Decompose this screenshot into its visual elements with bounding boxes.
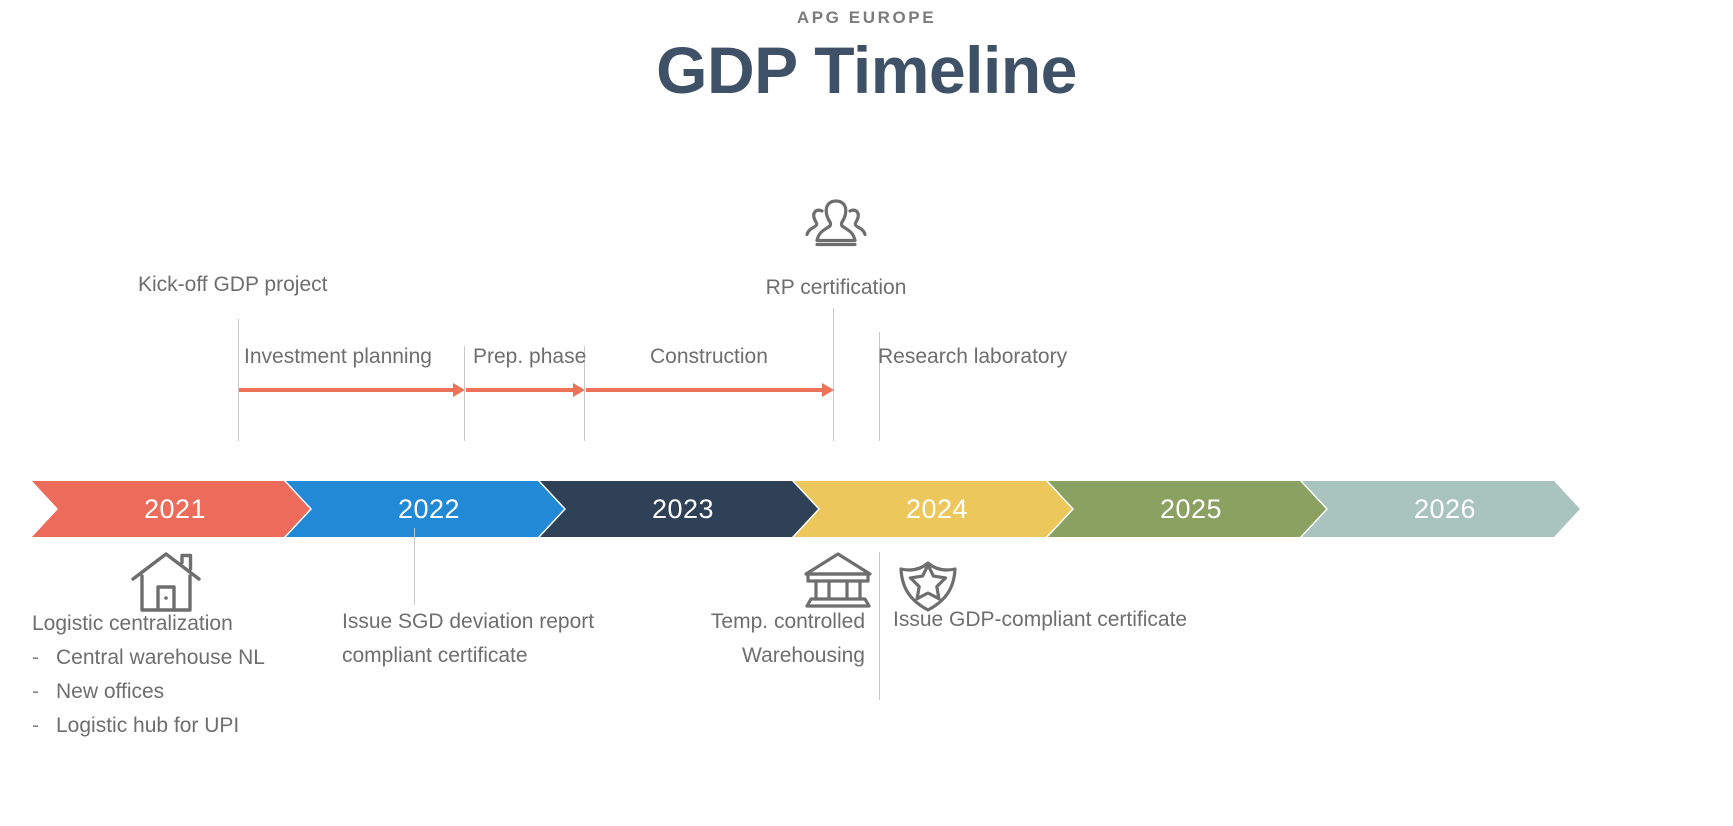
tick-line-rp-certification <box>833 308 834 441</box>
bullet-marker-2: - <box>32 709 42 743</box>
phase-label-investment-planning: Investment planning <box>244 341 432 374</box>
chevron-label-2025: 2025 <box>1160 494 1222 525</box>
list-item: -Logistic hub for UPI <box>32 709 352 743</box>
sgd-text-block: Issue SGD deviation report compliant cer… <box>342 605 672 673</box>
timeline-chevron-2026[interactable]: 2026 <box>1302 481 1580 537</box>
sgd-line-1: Issue SGD deviation report <box>342 605 672 639</box>
chevron-label-2021: 2021 <box>144 494 206 525</box>
phase-label-prep-phase: Prep. phase <box>473 341 586 374</box>
bullet-marker-1: - <box>32 675 42 709</box>
timeline-chevron-2025[interactable]: 2025 <box>1048 481 1326 537</box>
phase-label-research-laboratory: Research laboratory <box>878 341 1067 374</box>
certificate-line-1: Issue GDP-compliant certificate <box>893 604 1187 637</box>
tick-line-2021-start <box>238 319 239 441</box>
arrowhead-prep-phase <box>573 383 585 397</box>
milestone-label-rp-certification: RP certification <box>686 272 986 305</box>
tick-line-certificate <box>879 552 880 700</box>
warehousing-line-2: Warehousing <box>645 639 865 673</box>
arrow-segment-investment-planning <box>239 388 453 392</box>
tick-line-sgd <box>414 528 415 605</box>
page-title: GDP Timeline <box>0 36 1733 105</box>
bullet-text-1: New offices <box>56 675 164 709</box>
timeline-chevron-2024[interactable]: 2024 <box>794 481 1072 537</box>
phase-label-construction: Construction <box>650 341 768 374</box>
arrowhead-construction <box>822 383 834 397</box>
warehousing-line-1: Temp. controlled <box>645 605 865 639</box>
warehousing-text-block: Temp. controlled Warehousing <box>645 605 865 673</box>
bullet-text-0: Central warehouse NL <box>56 641 265 675</box>
arrow-segment-construction <box>586 388 822 392</box>
arrow-segment-prep-phase <box>466 388 573 392</box>
people-group-icon <box>800 195 872 258</box>
sgd-line-2: compliant certificate <box>342 639 672 673</box>
milestone-label-kickoff: Kick-off GDP project <box>138 269 327 302</box>
list-item: -Central warehouse NL <box>32 641 352 675</box>
timeline-chevron-2022[interactable]: 2022 <box>286 481 564 537</box>
brand-eyebrow: APG EUROPE <box>0 8 1733 28</box>
chevron-label-2023: 2023 <box>652 494 714 525</box>
logistics-heading: Logistic centralization <box>32 607 352 641</box>
chevron-label-2022: 2022 <box>398 494 460 525</box>
bullet-text-2: Logistic hub for UPI <box>56 709 239 743</box>
timeline-chevron-band: 2021 2022 2023 2024 2025 2026 <box>32 481 1704 537</box>
timeline-chevron-2023[interactable]: 2023 <box>540 481 818 537</box>
timeline-chevron-2021[interactable]: 2021 <box>32 481 310 537</box>
chevron-label-2024: 2024 <box>906 494 968 525</box>
list-item: -New offices <box>32 675 352 709</box>
arrowhead-investment-planning <box>453 383 465 397</box>
bullet-marker-0: - <box>32 641 42 675</box>
chevron-label-2026: 2026 <box>1414 494 1476 525</box>
logistics-text-block: Logistic centralization -Central warehou… <box>32 607 352 743</box>
logistics-bullet-list: -Central warehouse NL -New offices -Logi… <box>32 641 352 743</box>
